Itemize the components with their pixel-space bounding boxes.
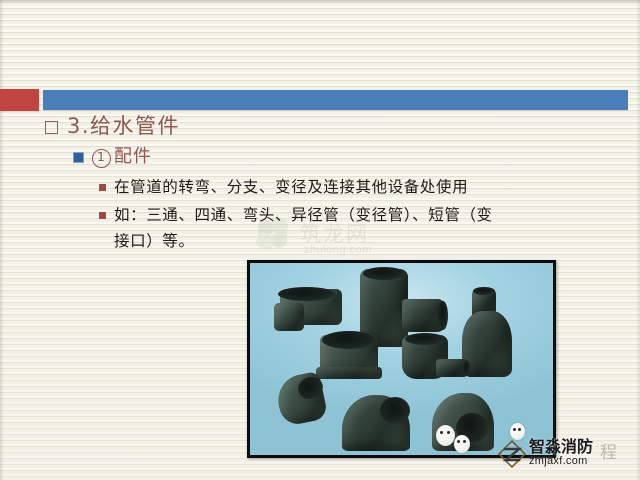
photo-background [250,263,553,455]
hollow-square-bullet-icon [45,121,58,134]
circled-number-marker: 1 [92,149,111,168]
zmjaxf-logo-icon [497,439,527,469]
slide-canvas: 筑龙网 zhulong.com 3.给水管件 1配件 在管道的转弯、分支、变径及… [0,0,640,480]
fitting-reducer-right-bore [473,287,495,295]
fitting-flange-stub-rim [316,367,382,379]
fitting-reducer-upper-left-small [274,303,304,331]
page-edge-top [0,0,640,3]
fitting-reducer-upper-left-bore [278,287,335,301]
fitting-tee-large-bore [363,267,405,280]
outline-level3-text-2: 如：三通、四通、弯头、异径管（变径管）、短管（变 [114,206,493,224]
fitting-flange-stub-bore [322,331,376,349]
zmjaxf-logo-name: 智淼消防 [529,438,593,455]
fitting-elbow-90-bore [380,397,410,424]
outline-level1: 3.给水管件 [0,112,640,140]
outline-level1-label: 3.给水管件 [67,112,180,140]
divider-bar [0,89,640,111]
outline-level3-label-1: 在管道的转弯、分支、变径及连接其他设备处使用 [114,174,468,200]
small-square-bullet-icon [99,184,106,191]
zmjaxf-logo: 智淼消防 zmjaxf.com [497,437,640,471]
slide-content: 3.给水管件 1配件 在管道的转弯、分支、变径及连接其他设备处使用 如：三通、四… [0,112,640,256]
outline-level2-text: 配件 [114,146,152,167]
pipe-fittings-photo [247,260,556,458]
outline-level2: 1配件 [0,144,640,169]
outline-level3-item-2: 如：三通、四通、弯头、异径管（变径管）、短管（变 接口）等。 [0,202,640,254]
divider-accent-red [0,89,39,111]
outline-level3-item-1: 在管道的转弯、分支、变径及连接其他设备处使用 [0,174,640,200]
owl-doodle-2 [454,435,470,453]
zmjaxf-logo-text: 智淼消防 zmjaxf.com [529,438,593,468]
small-square-bullet-icon [99,212,106,219]
fitting-saddle-tee-bore [405,333,445,345]
fitting-saddle-tee-outlet-bore [463,361,470,376]
zmjaxf-logo-url: zmjaxf.com [529,455,593,468]
divider-accent-blue [43,90,628,110]
fitting-tee-large-branch-bore [438,301,448,330]
outline-level2-label: 1配件 [92,144,152,169]
outline-level3-label-2: 如：三通、四通、弯头、异径管（变径管）、短管（变 接口）等。 [114,202,493,254]
filled-square-bullet-icon [73,152,84,163]
outline-level3-text-2-continued: 接口）等。 [114,228,493,254]
owl-doodle-1 [436,425,455,446]
